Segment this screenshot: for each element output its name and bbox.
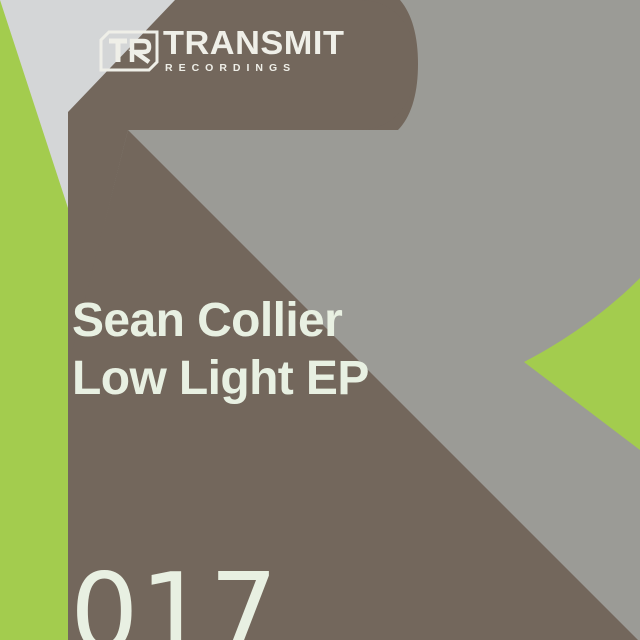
artist-name: Sean Collier — [72, 292, 492, 350]
album-cover: TRANSMIT RECORDINGS Sean Collier Low Lig… — [0, 0, 640, 640]
release-title: Low Light EP — [72, 350, 492, 408]
catalog-number: 017 — [70, 560, 279, 640]
label-subword: RECORDINGS — [165, 62, 323, 74]
label-wordmark: TRANSMIT — [163, 26, 329, 60]
label-logo: TRANSMIT RECORDINGS — [99, 26, 323, 78]
tr-monogram-icon — [99, 28, 161, 72]
gray-top-right — [398, 0, 640, 130]
title-block: Sean Collier Low Light EP — [72, 292, 492, 408]
